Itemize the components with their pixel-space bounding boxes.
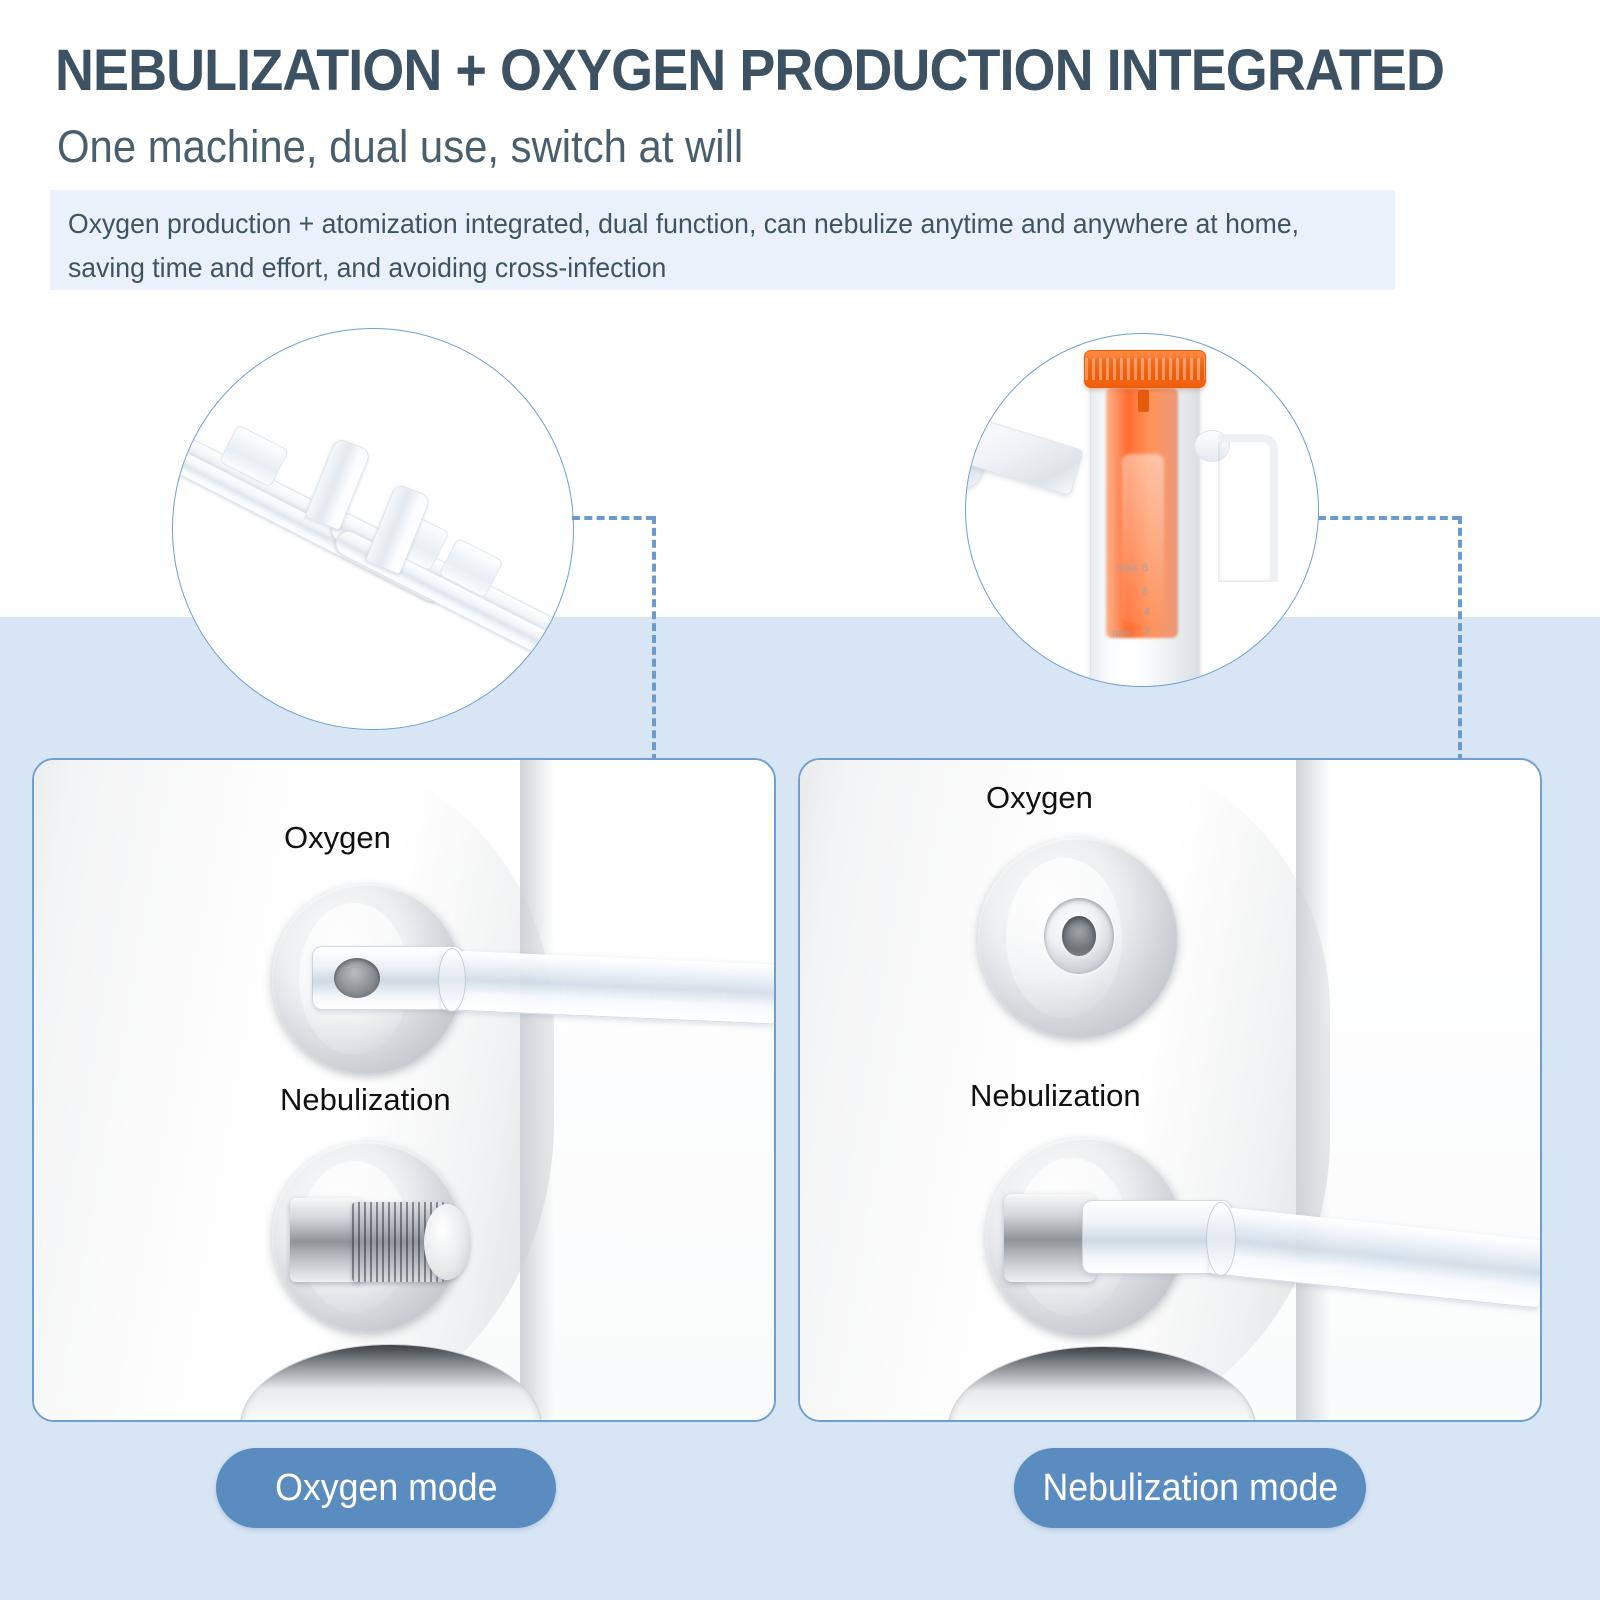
accessory-circle-nebulizer-cup: max 8 6 4 2 min bbox=[965, 333, 1319, 687]
oxygen-tube-ring bbox=[438, 948, 466, 1012]
connector-left-vertical bbox=[652, 516, 656, 762]
hook-tube bbox=[1218, 434, 1278, 582]
accessory-circle-nasal-cannula bbox=[172, 328, 574, 730]
cup-cap bbox=[1084, 350, 1206, 388]
cannula-prong-left bbox=[304, 437, 371, 531]
page-title: NEBULIZATION + OXYGEN PRODUCTION INTEGRA… bbox=[55, 40, 1431, 102]
photo-panel-nebulization-mode: Oxygen Nebulization bbox=[798, 758, 1542, 1422]
nebulization-mode-button[interactable]: Nebulization mode bbox=[1014, 1448, 1366, 1528]
cup-baffle bbox=[1122, 454, 1164, 624]
scale-max: max 8 bbox=[1116, 562, 1148, 574]
nebulization-knob-cap bbox=[424, 1204, 470, 1280]
label-nebulization: Nebulization bbox=[280, 1082, 451, 1118]
scale-4: 4 bbox=[1144, 606, 1151, 618]
page-subtitle: One machine, dual use, switch at will bbox=[57, 118, 1266, 176]
nebulization-mode-button-label: Nebulization mode bbox=[1042, 1467, 1338, 1510]
oxygen-port-bore bbox=[334, 958, 380, 998]
photo-panel-oxygen-mode: Oxygen Nebulization bbox=[32, 758, 776, 1422]
oxygen-mode-button[interactable]: Oxygen mode bbox=[216, 1448, 556, 1528]
nebulizer-cup-illustration: max 8 6 4 2 min bbox=[966, 334, 1318, 686]
scale-2: 2 bbox=[1144, 626, 1151, 638]
scale-min: min bbox=[1112, 628, 1131, 640]
label-oxygen: Oxygen bbox=[284, 820, 391, 856]
label-nebulization: Nebulization bbox=[970, 1078, 1141, 1114]
description-box: Oxygen production + atomization integrat… bbox=[50, 190, 1395, 290]
oxygen-mode-button-label: Oxygen mode bbox=[275, 1467, 497, 1510]
mouthpiece-stem bbox=[965, 412, 1084, 496]
nebulization-tube-ring bbox=[1206, 1202, 1236, 1276]
cap-tab bbox=[1138, 390, 1149, 412]
connector-left-horizontal bbox=[572, 516, 654, 520]
label-oxygen: Oxygen bbox=[986, 780, 1093, 816]
cap-ridges bbox=[1085, 358, 1205, 380]
connector-right-vertical bbox=[1458, 516, 1462, 762]
oxygen-nozzle-hole bbox=[1062, 916, 1096, 956]
description-text: Oxygen production + atomization integrat… bbox=[68, 202, 1322, 290]
connector-right-horizontal bbox=[1318, 516, 1460, 520]
nasal-cannula-illustration bbox=[173, 329, 573, 729]
scale-6: 6 bbox=[1142, 586, 1149, 598]
